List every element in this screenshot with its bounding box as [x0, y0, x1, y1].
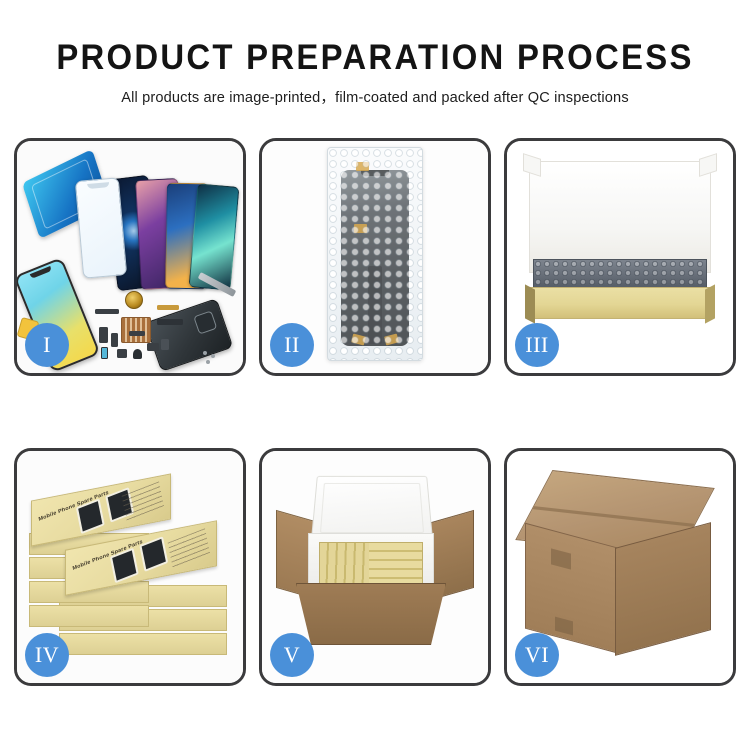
step-panel-2: II [259, 138, 491, 376]
foam-liner-icon [308, 533, 434, 591]
packed-retail-boxes-icon [319, 542, 423, 584]
step-panel-3: III [504, 138, 736, 376]
phone-screen-icon [189, 183, 240, 290]
page-subtitle: All products are image-printed，film-coat… [0, 86, 750, 107]
screen-flex-cable-icon [368, 266, 382, 344]
spare-parts-cluster [95, 293, 215, 367]
kraft-box-base-icon [525, 287, 715, 319]
retail-box-icon [59, 633, 227, 655]
step-badge-6: VI [515, 633, 559, 677]
bubble-wrapped-contents-icon [533, 259, 707, 289]
speaker-coil-icon [125, 291, 143, 309]
flex-cable-icon [157, 305, 179, 310]
battery-connector-icon [101, 347, 108, 359]
tape-icon [356, 162, 369, 171]
camera-module-icon [117, 349, 127, 358]
step-badge-3: III [515, 323, 559, 367]
step-badge-2: II [270, 323, 314, 367]
connector-icon [111, 333, 118, 347]
page-title: PRODUCT PREPARATION PROCESS [23, 40, 728, 77]
screws-icon [203, 351, 221, 365]
header: PRODUCT PREPARATION PROCESS All products… [0, 0, 750, 107]
flex-cable-icon [157, 319, 183, 325]
retail-box-stack: Mobile Phone Spare Parts Mobile Phone Sp… [29, 473, 235, 663]
step-panel-5: V [259, 448, 491, 686]
retail-box-icon [29, 605, 149, 627]
step-panel-1: I [14, 138, 246, 376]
flex-cable-icon [129, 331, 145, 336]
step-badge-5: V [270, 633, 314, 677]
flex-cable-icon [95, 309, 119, 314]
connector-icon [147, 343, 159, 351]
bubble-wrap-bag-icon [327, 147, 423, 361]
box-lid-icon [529, 161, 711, 273]
step-badge-4: IV [25, 633, 69, 677]
vibrator-motor-icon [133, 349, 142, 359]
tape-icon [354, 224, 367, 233]
product-preparation-infographic: PRODUCT PREPARATION PROCESS All products… [0, 0, 750, 750]
carton-front-panel-icon [296, 583, 446, 645]
step-panel-4: Mobile Phone Spare Parts Mobile Phone Sp… [14, 448, 246, 686]
step-panel-6: VI [504, 448, 736, 686]
tempered-glass-icon [75, 177, 127, 278]
process-steps-grid: I II [14, 138, 736, 686]
step-badge-1: I [25, 323, 69, 367]
logic-board-icon [121, 317, 151, 343]
connector-icon [99, 327, 108, 343]
box-spec-lines [168, 528, 211, 569]
foam-lid-icon [311, 476, 433, 542]
sim-tray-icon [161, 339, 169, 350]
phone-screen-fan [111, 159, 241, 289]
wrapped-screen-icon [341, 170, 409, 346]
